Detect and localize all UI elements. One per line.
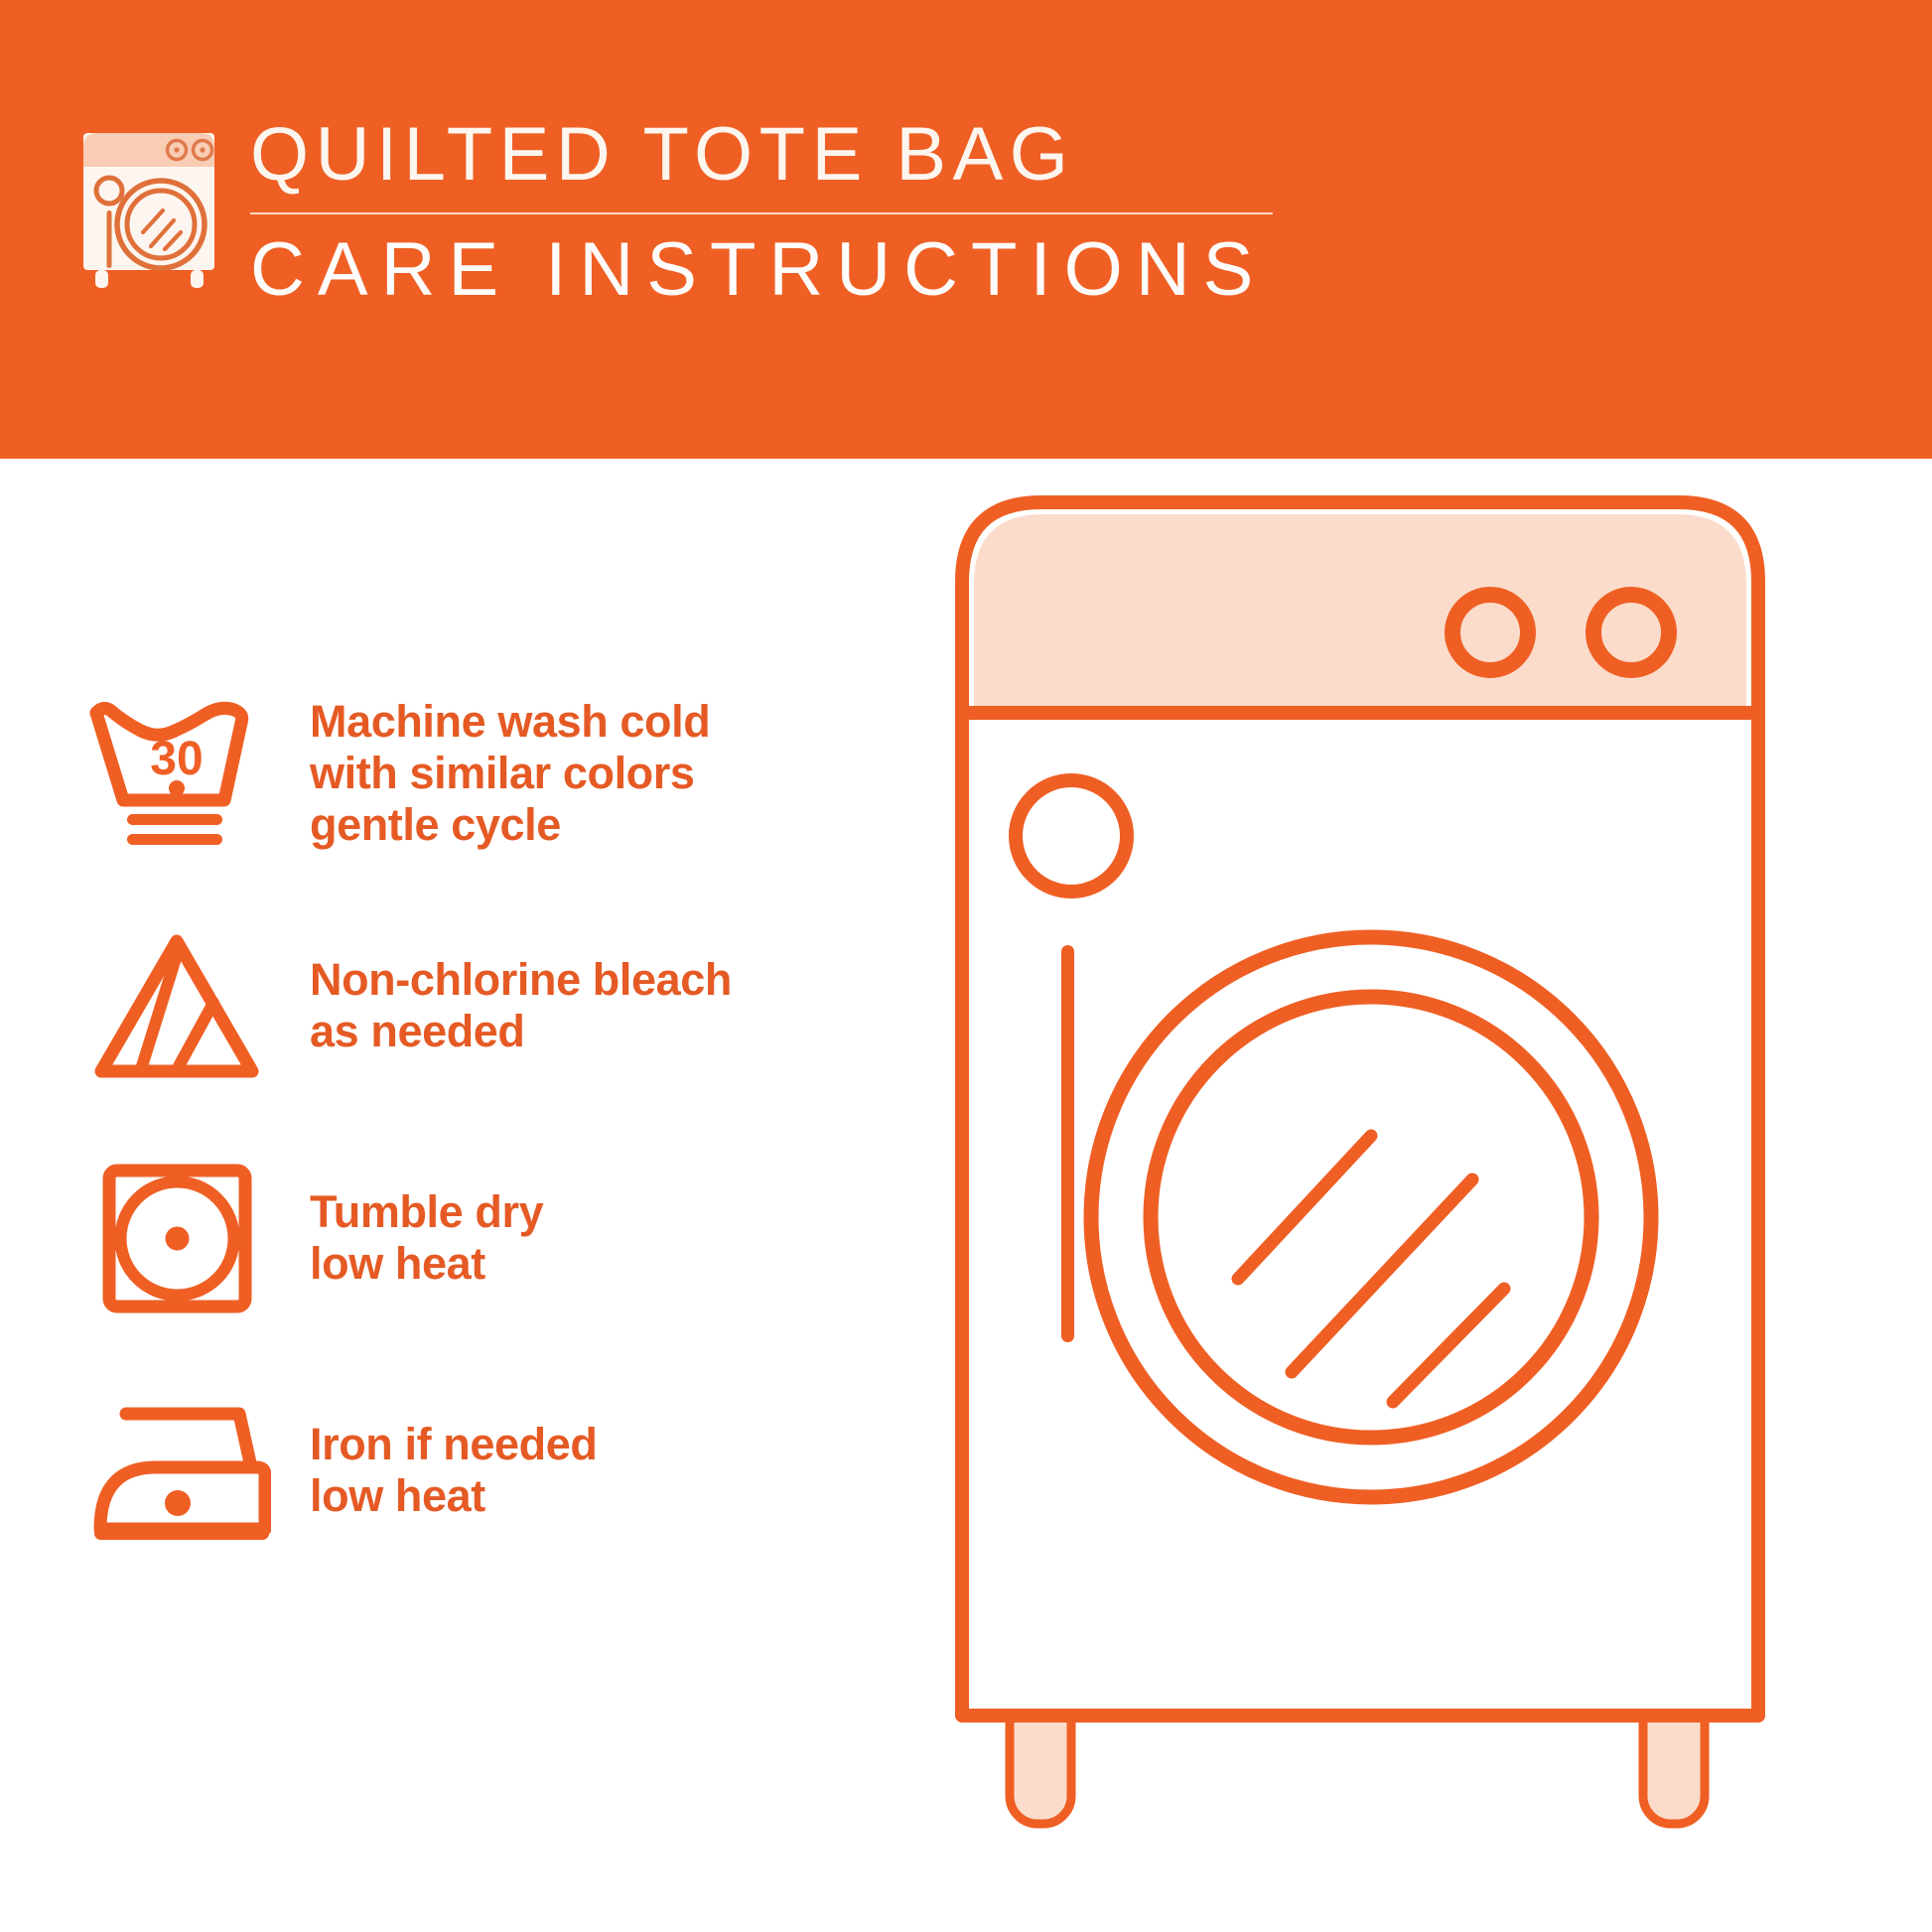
title-divider bbox=[250, 212, 1273, 214]
care-row-iron: Iron if needed low heat bbox=[77, 1354, 931, 1587]
washer-knob bbox=[1593, 595, 1669, 670]
care-row-bleach: Non-chlorine bleach as needed bbox=[77, 890, 931, 1122]
washer-indicator-light bbox=[1016, 780, 1127, 892]
tumble-dry-low-heat-icon bbox=[100, 1162, 254, 1315]
non-chlorine-bleach-triangle-icon bbox=[90, 929, 264, 1083]
care-symbol-slot bbox=[77, 1162, 276, 1315]
wash-temperature-label: 30 bbox=[150, 733, 203, 785]
care-row-machine-wash: 30 Machine wash cold with similar colors… bbox=[77, 657, 931, 890]
content-area: 30 Machine wash cold with similar colors… bbox=[0, 459, 1932, 1932]
header-content: QUILTED TOTE BAG CARE INSTRUCTIONS bbox=[69, 107, 1273, 314]
care-symbol-slot: 30 bbox=[77, 697, 276, 851]
care-symbol-slot bbox=[77, 929, 276, 1083]
care-instruction-list: 30 Machine wash cold with similar colors… bbox=[77, 657, 931, 1587]
washer-knob bbox=[1452, 595, 1528, 670]
header-title-group: QUILTED TOTE BAG CARE INSTRUCTIONS bbox=[250, 107, 1273, 314]
care-text-bleach: Non-chlorine bleach as needed bbox=[310, 954, 732, 1057]
care-row-tumble-dry: Tumble dry low heat bbox=[77, 1122, 931, 1354]
iron-low-heat-icon bbox=[82, 1396, 271, 1545]
wash-tub-30-gentle-icon: 30 bbox=[85, 697, 269, 851]
washing-machine-icon bbox=[69, 107, 228, 291]
washing-machine-illustration bbox=[948, 479, 1862, 1868]
page-title: QUILTED TOTE BAG bbox=[250, 111, 1273, 199]
care-text-tumble-dry: Tumble dry low heat bbox=[310, 1186, 543, 1290]
washer-latch-line bbox=[1061, 945, 1074, 1342]
page-subtitle: CARE INSTRUCTIONS bbox=[250, 226, 1273, 314]
care-text-iron: Iron if needed low heat bbox=[310, 1419, 597, 1522]
care-text-machine-wash: Machine wash cold with similar colors ge… bbox=[310, 696, 710, 851]
care-symbol-slot bbox=[77, 1396, 276, 1545]
header-banner: QUILTED TOTE BAG CARE INSTRUCTIONS bbox=[0, 0, 1932, 459]
washer-door-inner bbox=[1151, 997, 1591, 1438]
